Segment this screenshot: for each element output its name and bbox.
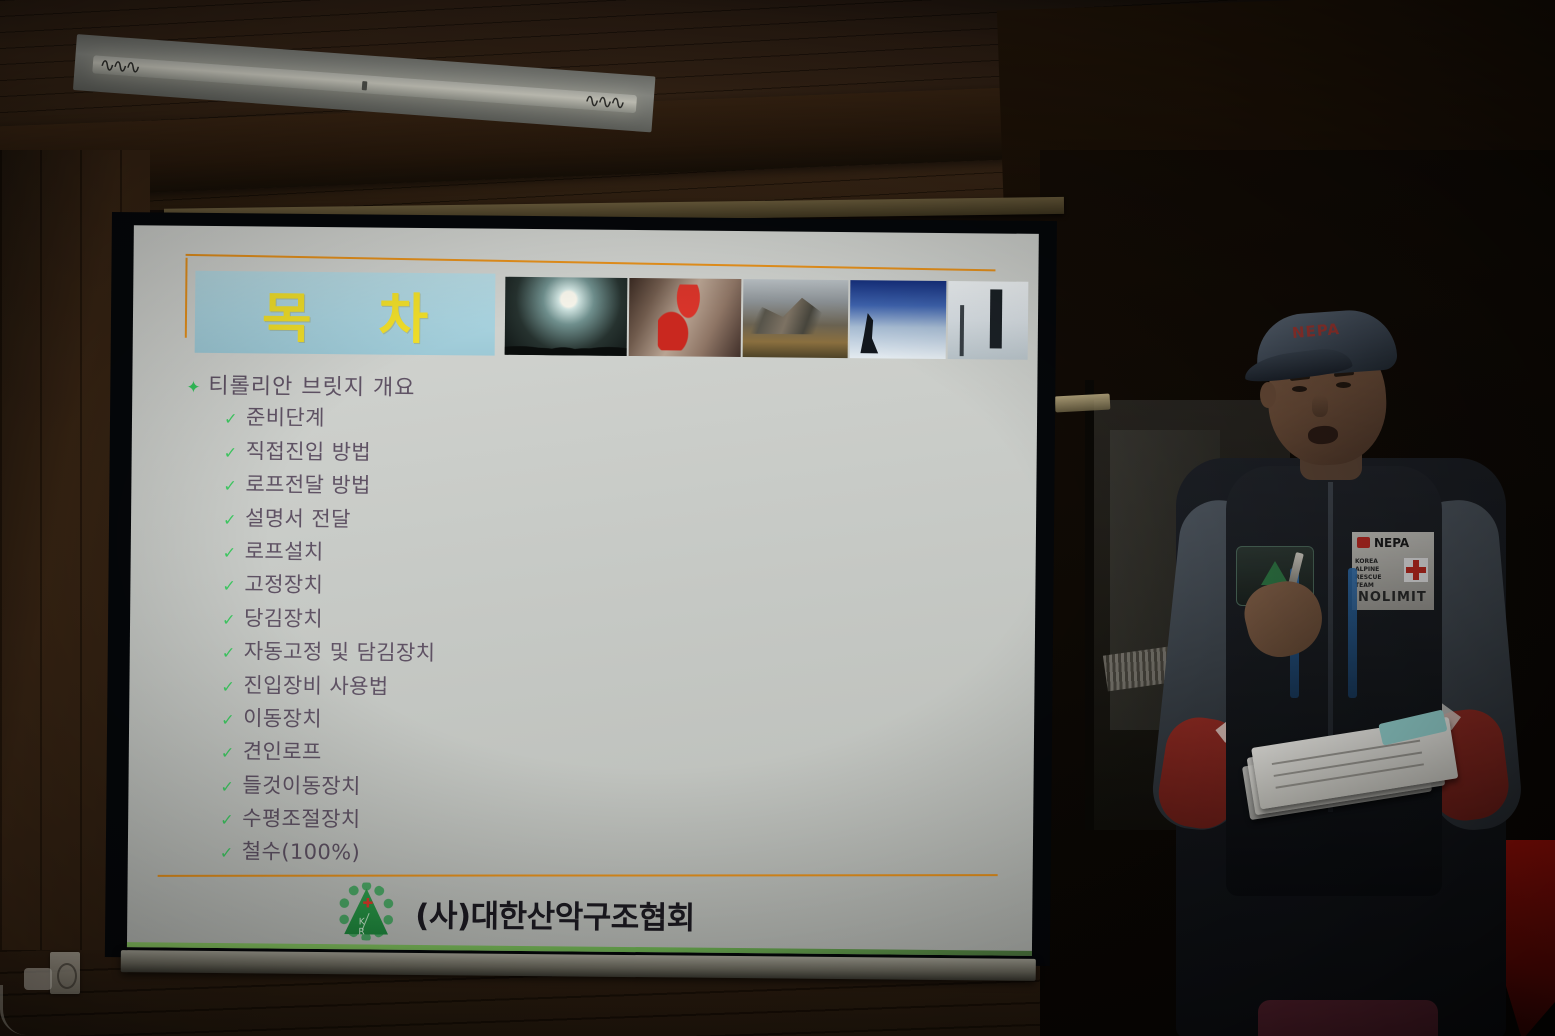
photo-mountain-ridge	[743, 279, 849, 358]
outlet-socket-icon	[57, 963, 77, 989]
korea-alpine-rescue-logo-icon: ✚ K R	[337, 882, 396, 941]
logo-cross-icon: ✚	[362, 899, 371, 908]
list-item-label: 로프전달 방법	[245, 468, 371, 499]
nepa-mark-icon	[1357, 537, 1370, 548]
list-item-label: 철수(100%)	[242, 836, 361, 867]
screen-canvas: 목 차 ✦ 티롤리안 브릿지 개요 ✓ 준비단계	[127, 225, 1039, 956]
list-item: ✓ 준비단계	[182, 401, 742, 440]
check-bullet-icon: ✓	[220, 810, 242, 829]
check-bullet-icon: ✓	[223, 476, 245, 495]
check-bullet-icon: ✓	[223, 510, 245, 529]
paper-line	[1274, 751, 1422, 776]
slide-title-band: 목 차	[195, 271, 496, 356]
presentation-slide: 목 차 ✦ 티롤리안 브릿지 개요 ✓ 준비단계	[127, 225, 1039, 956]
paper-line	[1272, 740, 1420, 765]
presenter-legs	[1258, 1000, 1438, 1036]
lamp-screw	[362, 81, 368, 90]
door-frame	[1085, 380, 1094, 830]
list-item-label: 로프설치	[245, 535, 324, 566]
screenshot-scene: ∿∿∿ ∿∿∿ 목 차	[0, 0, 1555, 1036]
list-item-label: 고정장치	[244, 569, 323, 600]
list-item: ✓ 고정장치	[180, 568, 740, 607]
list-item-label: 진입장비 사용법	[243, 669, 388, 700]
lamp-scroll-decoration-left: ∿∿∿	[80, 50, 158, 81]
list-item-label: 수평조절장치	[242, 802, 361, 833]
list-item: ✓ 당김장치	[180, 601, 740, 640]
slide-top-rule	[186, 254, 996, 272]
photo-rock-climbers-red	[629, 278, 742, 357]
list-item: ✓ 진입장비 사용법	[179, 668, 739, 707]
pocket-item-right	[1348, 568, 1357, 698]
projector-screen: 목 차 ✦ 티롤리안 브릿지 개요 ✓ 준비단계	[105, 212, 1057, 981]
slide-title: 목 차	[195, 271, 496, 356]
list-item-label: 설명서 전달	[245, 502, 351, 533]
check-bullet-icon: ✓	[224, 409, 246, 428]
list-item: ✓ 수평조절장치	[178, 802, 738, 841]
list-item: ✓ 설명서 전달	[181, 501, 741, 540]
organization-name: (사)대한산악구조협회	[415, 889, 695, 937]
list-item: ✓ 견인로프	[179, 735, 739, 774]
list-item: ✦ 티롤리안 브릿지 개요	[182, 368, 742, 407]
check-bullet-icon: ✓	[220, 844, 242, 863]
slide-left-rule	[185, 258, 188, 338]
check-bullet-icon: ✓	[222, 576, 244, 595]
list-item: ✓ 로프전달 방법	[181, 468, 741, 507]
list-item: ✓ 들것이동장치	[178, 768, 738, 807]
presenter-vest	[1226, 466, 1442, 896]
presenter-ear	[1260, 382, 1276, 408]
table-of-contents: ✦ 티롤리안 브릿지 개요 ✓ 준비단계 ✓ 직접진입 방법 ✓ 로프전달 방법	[178, 368, 743, 874]
nepa-slogan: NOLIMIT	[1358, 590, 1427, 605]
slide-bottom-rule	[158, 874, 998, 877]
list-item-label: 준비단계	[246, 402, 325, 433]
list-item: ✓ 로프설치	[181, 535, 741, 574]
diamond-bullet-icon: ✦	[186, 378, 208, 398]
photo-sunset-silhouettes	[505, 277, 628, 356]
check-bullet-icon: ✓	[224, 443, 246, 462]
check-bullet-icon: ✓	[222, 610, 244, 629]
logo-letters: K R	[349, 917, 383, 937]
presenter-right-eye	[1336, 382, 1351, 388]
list-item-label: 이동장치	[243, 702, 322, 733]
check-bullet-icon: ✓	[221, 710, 243, 729]
list-item: ✓ 자동고정 및 담김장치	[180, 635, 740, 674]
photo-snow-climbers	[850, 280, 947, 359]
list-item: ✓ 직접진입 방법	[182, 434, 742, 473]
list-item: ✓ 이동장치	[179, 702, 739, 741]
red-cross-icon	[1404, 558, 1428, 582]
nepa-patch: NEPA KOREA ALPINE RESCUE TEAM NOLIMIT	[1352, 532, 1434, 610]
photo-snowfield-figures	[948, 281, 1029, 360]
presenter-left-eye	[1292, 386, 1307, 392]
slide-footer: ✚ K R (사)대한산악구조협회	[337, 882, 695, 943]
check-bullet-icon: ✓	[223, 543, 245, 562]
list-item-label: 티롤리안 브릿지 개요	[208, 368, 415, 402]
paper-line	[1275, 763, 1423, 788]
presenter-nose	[1312, 395, 1328, 417]
wall-outlet[interactable]	[50, 952, 80, 994]
check-bullet-icon: ✓	[220, 777, 242, 796]
presenter: NEPA KOREA ALPINE RESCUE TEAM NOLIMIT NE…	[1140, 300, 1540, 1036]
list-item-label: 견인로프	[243, 736, 322, 767]
check-bullet-icon: ✓	[221, 743, 243, 762]
background-ceiling-lamp	[1055, 394, 1111, 413]
slide-photo-strip	[505, 277, 1029, 360]
check-bullet-icon: ✓	[221, 677, 243, 696]
nepa-subtext: KOREA ALPINE RESCUE TEAM	[1355, 558, 1401, 590]
check-bullet-icon: ✓	[222, 643, 244, 662]
lamp-scroll-decoration-right: ∿∿∿	[565, 86, 643, 117]
list-item: ✓ 철수(100%)	[178, 835, 738, 874]
list-item-label: 당김장치	[244, 602, 323, 633]
list-item-label: 들것이동장치	[242, 769, 361, 800]
list-item-label: 직접진입 방법	[246, 435, 372, 466]
list-item-label: 자동고정 및 담김장치	[244, 635, 436, 667]
nepa-brand-label: NEPA	[1374, 536, 1409, 550]
